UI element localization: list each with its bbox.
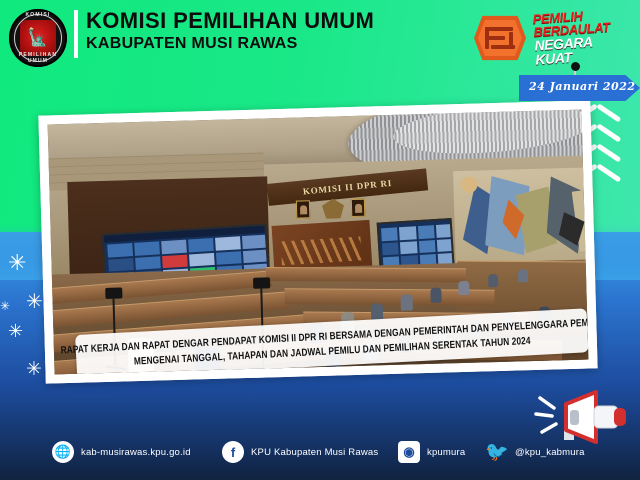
- meeting-photo: KOMISI II DPR RI: [48, 110, 589, 375]
- room-sign-label: KOMISI II DPR RI: [302, 178, 392, 197]
- social-link-facebook[interactable]: f KPU Kabupaten Musi Rawas: [222, 441, 378, 463]
- wall-portrait: [351, 199, 365, 217]
- instagram-icon: ◉: [398, 441, 420, 463]
- sparkle-icon: ✳: [8, 322, 23, 340]
- sparkle-icon: ✳: [26, 360, 42, 379]
- seal-arc-bottom: PEMILIHAN UMUM: [9, 52, 67, 64]
- sparkle-icon: ✳: [26, 292, 43, 312]
- facebook-icon: f: [222, 441, 244, 463]
- twitter-label: @kpu_kabmura: [515, 447, 585, 458]
- kpu-seal-icon: KOMISI 🗽 PEMILIHAN UMUM: [9, 9, 67, 67]
- title-divider: [74, 10, 78, 58]
- instagram-label: kpumura: [427, 447, 465, 458]
- photo-frame: KOMISI II DPR RI: [38, 100, 597, 383]
- social-link-instagram[interactable]: ◉ kpumura: [398, 441, 465, 463]
- social-link-website[interactable]: 🌐 kab-musirawas.kpu.go.id: [52, 441, 191, 463]
- kpu-box-logo-icon: [474, 14, 526, 62]
- org-title: KOMISI PEMILIHAN UMUM: [86, 8, 374, 34]
- seal-arc-top: KOMISI: [9, 12, 67, 18]
- wall-mural: [453, 167, 588, 267]
- poster-canvas: ✳ ✳ ✳ ✳ ✳ ✳ KOMISI 🗽 PEMILIHAN UMUM KOMI…: [0, 0, 640, 480]
- globe-icon: 🌐: [52, 441, 74, 463]
- attendee: [371, 303, 383, 320]
- attendee: [401, 294, 413, 310]
- date-pin-icon: [571, 62, 580, 71]
- attendee: [488, 274, 498, 287]
- campaign-slogan: PEMILIH BERDAULAT NEGARA KUAT: [532, 6, 640, 67]
- attendee: [430, 288, 441, 303]
- attendee: [518, 269, 528, 282]
- org-subtitle: KABUPATEN MUSI RAWAS: [86, 34, 374, 54]
- poster-header: KOMISI 🗽 PEMILIHAN UMUM KOMISI PEMILIHAN…: [0, 0, 640, 88]
- sparkle-icon: ✳: [8, 252, 26, 274]
- twitter-icon: 🐦: [486, 441, 508, 463]
- date-badge: 24 Januari 2022: [519, 75, 640, 101]
- facebook-label: KPU Kabupaten Musi Rawas: [251, 447, 378, 458]
- social-footer: 🌐 kab-musirawas.kpu.go.id f KPU Kabupate…: [0, 424, 640, 480]
- date-badge-label: 24 Januari 2022: [529, 80, 636, 93]
- attendee: [458, 281, 469, 295]
- social-link-twitter[interactable]: 🐦 @kpu_kabmura: [486, 441, 585, 463]
- sparkle-icon: ✳: [0, 300, 10, 312]
- title-block: KOMISI PEMILIHAN UMUM KABUPATEN MUSI RAW…: [86, 8, 374, 54]
- wall-portrait: [296, 200, 310, 218]
- website-label: kab-musirawas.kpu.go.id: [81, 447, 191, 458]
